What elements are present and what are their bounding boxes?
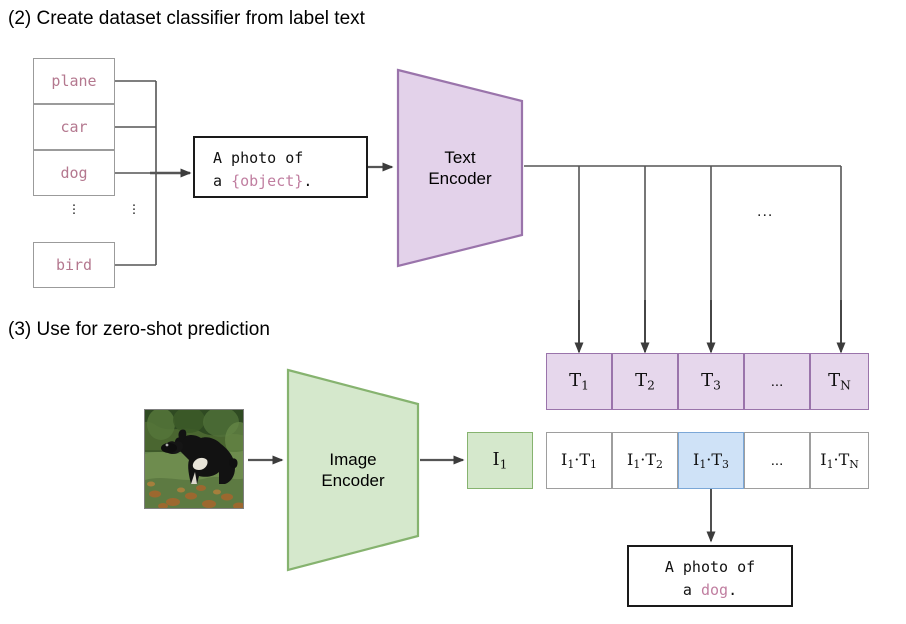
image-encoder-label: Image Encoder [321, 449, 384, 491]
prompt-template-line1: A photo of [195, 147, 366, 170]
prompt-template-slot: {object} [231, 172, 303, 190]
label-text: dog [60, 164, 87, 182]
prediction-suffix: . [728, 581, 737, 599]
cell-content: T2 [635, 370, 655, 392]
similarity-cell-2[interactable]: I1·T2 [612, 432, 678, 489]
cell-content: I1 [493, 449, 508, 471]
text-encoder-line1: Text [444, 148, 475, 167]
text-encoder-label: Text Encoder [428, 147, 491, 189]
diagram-canvas: (2) Create dataset classifier from label… [0, 0, 906, 624]
prompt-template-line2: a {object}. [195, 170, 366, 193]
cell-content: I1·T1 [561, 450, 597, 471]
prediction-result-box[interactable]: A photo of a dog. [627, 545, 793, 607]
prompt-template-suffix: . [303, 172, 312, 190]
vertical-ellipsis-labels: ··· [69, 203, 79, 215]
text-embedding-cell-2[interactable]: T2 [612, 353, 678, 410]
cell-content: TN [828, 370, 851, 392]
text-embedding-cell-3[interactable]: T3 [678, 353, 744, 410]
prediction-line1: A photo of [629, 556, 791, 579]
cell-content: I1·T3 [693, 450, 729, 471]
image-encoder-line2: Encoder [321, 471, 384, 490]
page-title-step-2: (2) Create dataset classifier from label… [8, 8, 365, 30]
similarity-cell-1[interactable]: I1·T1 [546, 432, 612, 489]
label-text: plane [51, 72, 96, 90]
similarity-cell-ellipsis: ... [744, 432, 810, 489]
cell-ellipsis: ... [771, 373, 784, 390]
prediction-prefix: a [683, 581, 701, 599]
cell-content: T3 [701, 370, 721, 392]
prompt-template-prefix: a [213, 172, 231, 190]
input-image-thumbnail[interactable] [144, 409, 244, 509]
label-box-dog[interactable]: dog [33, 150, 115, 196]
text-encoder-block[interactable]: Text Encoder [396, 68, 524, 268]
prompt-template-box[interactable]: A photo of a {object}. [193, 136, 368, 198]
image-encoder-block[interactable]: Image Encoder [286, 368, 420, 572]
page-title-step-3: (3) Use for zero-shot prediction [8, 319, 270, 341]
prediction-class: dog [701, 581, 728, 599]
similarity-cell-n[interactable]: I1·TN [810, 432, 869, 489]
text-encoder-line2: Encoder [428, 169, 491, 188]
fanout-ellipsis: ... [757, 203, 773, 221]
image-embedding-cell[interactable]: I1 [467, 432, 533, 489]
vertical-ellipsis-wires: ··· [129, 203, 139, 215]
label-text: bird [56, 256, 92, 274]
label-box-car[interactable]: car [33, 104, 115, 150]
similarity-cell-3-selected[interactable]: I1·T3 [678, 432, 744, 489]
text-embedding-cell-n[interactable]: TN [810, 353, 869, 410]
text-embedding-cell-1[interactable]: T1 [546, 353, 612, 410]
label-text: car [60, 118, 87, 136]
label-box-bird[interactable]: bird [33, 242, 115, 288]
text-embedding-cell-ellipsis: ... [744, 353, 810, 410]
dog-photo-illustration [145, 410, 244, 509]
cell-content: I1·TN [820, 450, 859, 471]
image-encoder-line1: Image [329, 450, 376, 469]
prediction-line2: a dog. [629, 579, 791, 602]
cell-content: I1·T2 [627, 450, 663, 471]
cell-content: T1 [569, 370, 589, 392]
cell-ellipsis: ... [771, 452, 784, 469]
label-box-plane[interactable]: plane [33, 58, 115, 104]
